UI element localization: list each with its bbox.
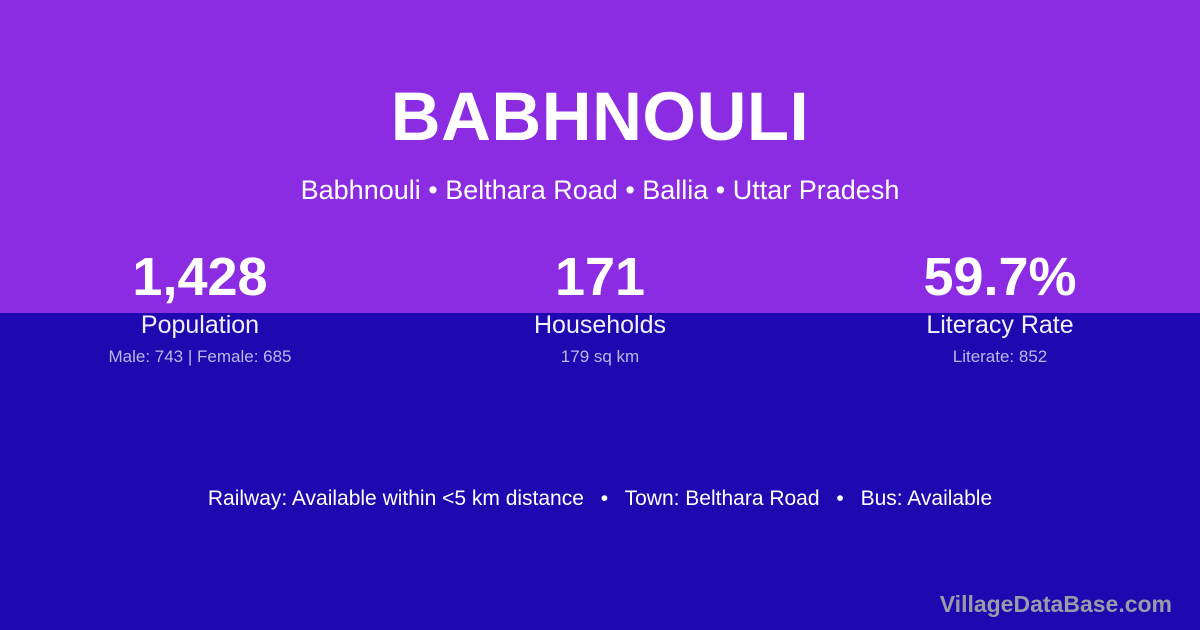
info-town: Town: Belthara Road (625, 487, 820, 510)
site-brand-watermark: VillageDataBase.com (940, 590, 1172, 618)
stat-sublabel: Literate: 852 (800, 347, 1200, 367)
stats-row: 1,428 Population Male: 743 | Female: 685… (0, 246, 1200, 367)
breadcrumb: Babhnouli • Belthara Road • Ballia • Utt… (0, 151, 1200, 204)
info-bus: Bus: Available (861, 487, 993, 510)
stat-value: 59.7% (800, 246, 1200, 308)
stat-value: 1,428 (0, 246, 400, 308)
page-title: BABHNOULI (0, 0, 1200, 151)
bullet-separator-icon: • (590, 487, 619, 510)
facilities-row: Railway: Available within <5 km distance… (0, 486, 1200, 512)
stat-label: Literacy Rate (800, 311, 1200, 339)
stat-label: Population (0, 311, 400, 339)
stat-value: 171 (400, 246, 800, 308)
stat-sublabel: 179 sq km (400, 347, 800, 367)
info-railway: Railway: Available within <5 km distance (208, 487, 584, 510)
bullet-separator-icon: • (825, 487, 854, 510)
village-info-card: BABHNOULI Babhnouli • Belthara Road • Ba… (0, 0, 1200, 630)
stat-population: 1,428 Population Male: 743 | Female: 685 (0, 246, 400, 367)
stat-literacy-rate: 59.7% Literacy Rate Literate: 852 (800, 246, 1200, 367)
stat-sublabel: Male: 743 | Female: 685 (0, 347, 400, 367)
card-header: BABHNOULI Babhnouli • Belthara Road • Ba… (0, 0, 1200, 204)
stat-label: Households (400, 311, 800, 339)
stat-households: 171 Households 179 sq km (400, 246, 800, 367)
